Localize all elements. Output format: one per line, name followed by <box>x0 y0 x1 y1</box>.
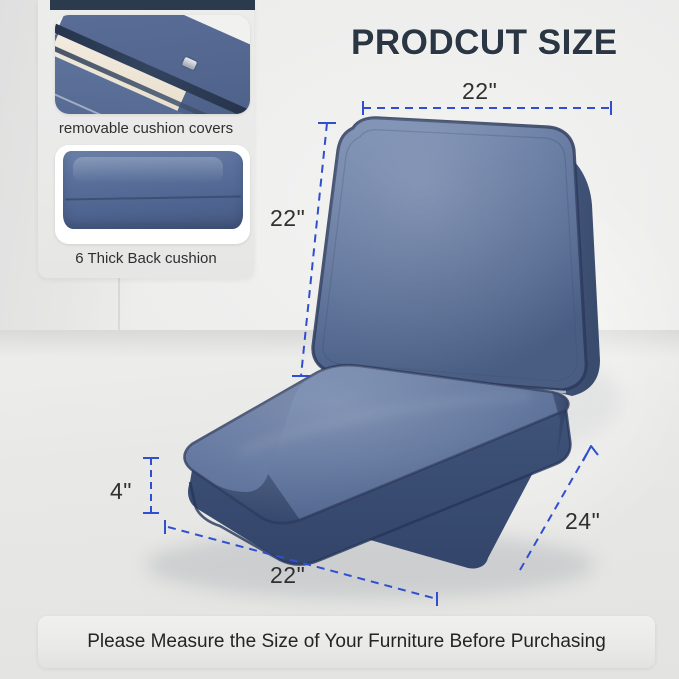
back-cushion <box>313 118 600 396</box>
measure-notice-banner: Please Measure the Size of Your Furnitur… <box>38 616 655 668</box>
dimension-label-seat-thickness: 4" <box>110 478 132 505</box>
cushion-svg <box>0 0 679 679</box>
dimension-label-seat-depth: 24" <box>565 508 600 535</box>
floor-shadow <box>145 531 595 599</box>
measure-notice-text: Please Measure the Size of Your Furnitur… <box>87 631 606 653</box>
dimension-label-back-width: 22" <box>462 78 497 105</box>
dimline-seat-thickness <box>143 458 159 513</box>
seat-cushion <box>185 365 571 568</box>
cushion-illustration <box>0 0 679 679</box>
back-cushion-highlight <box>313 118 586 390</box>
dimension-label-back-height: 22" <box>270 205 305 232</box>
product-size-infographic: PRODCUT SIZE removable cushion covers 6 … <box>0 0 679 679</box>
dimension-label-seat-width: 22" <box>270 562 305 589</box>
